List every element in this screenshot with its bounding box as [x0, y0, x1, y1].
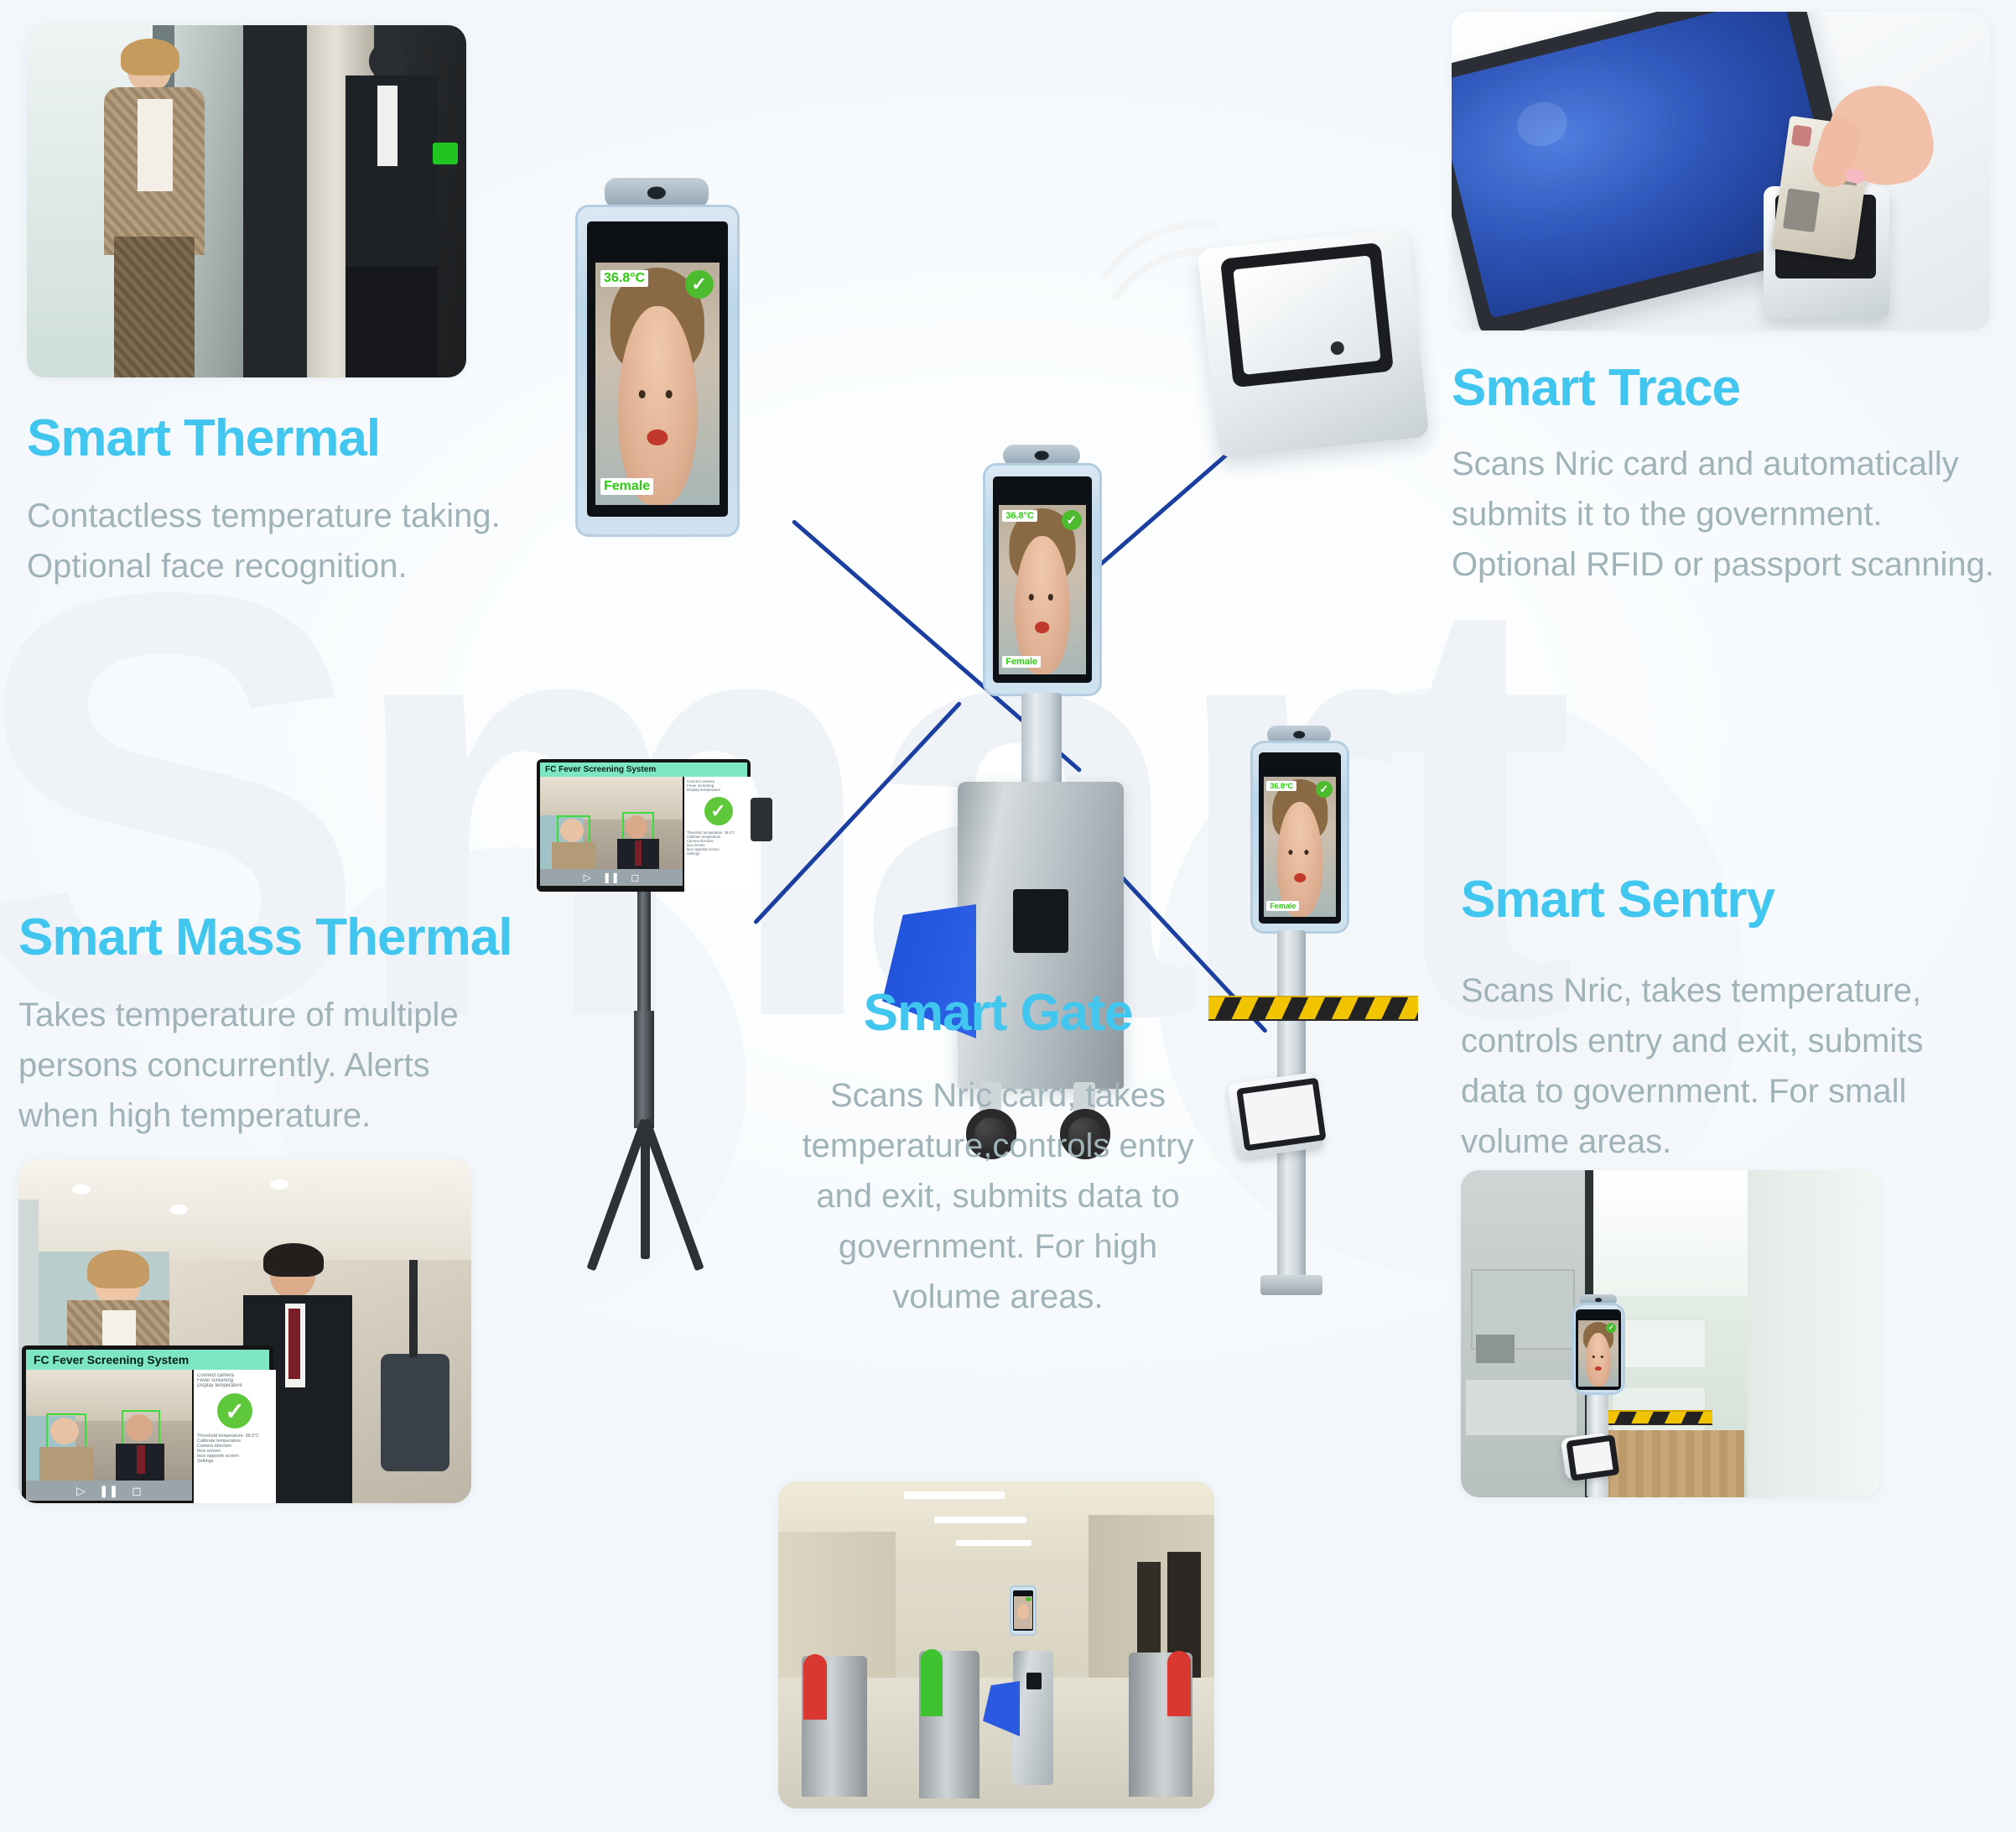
fever-screening-sidebar: Connect camera Fever screening Display t… [194, 1370, 276, 1503]
photo-gate-corridor [778, 1481, 1214, 1809]
pause-icon[interactable]: ❚❚ [99, 1484, 118, 1498]
check-circle-icon: ✓ [1062, 510, 1082, 530]
settings-label[interactable]: Settings [197, 1459, 273, 1464]
turnstile-indicator-green [921, 1649, 943, 1716]
gender-readout: Female [600, 478, 653, 495]
tripod-leg [641, 1120, 650, 1259]
temperature-readout: 36.8°C [600, 270, 648, 287]
section-smart-gate: Smart Gate Scans Nric card, takes temper… [788, 986, 1208, 1322]
stop-icon[interactable]: ◻ [631, 872, 639, 883]
settings-label[interactable]: Settings [687, 851, 750, 856]
thermal-sensor-module [751, 798, 772, 841]
section-smart-sentry: Smart Sentry Scans Nric, takes temperatu… [1461, 872, 1998, 1167]
play-icon[interactable]: ▷ [76, 1484, 86, 1498]
check-circle-icon: ✓ [1606, 1323, 1616, 1333]
scanner-housing [1198, 228, 1430, 459]
gate-camera-feed: 36.8°C ✓ Female [999, 505, 1086, 674]
section-body-line: Scans Nric card, takes [788, 1070, 1208, 1121]
device-smart-sentry: 36.8°C ✓ Female [1220, 726, 1421, 1304]
playback-controls[interactable]: ▷ ❚❚ ◻ [26, 1481, 192, 1501]
fever-screening-overlay: FC Fever Screening System Connect camera… [22, 1345, 273, 1503]
face-eye [1048, 594, 1053, 600]
section-body-line: submits it to the government. [1452, 489, 2005, 539]
gate-thermal-screen: 36.8°C ✓ Female [993, 476, 1092, 683]
playback-controls[interactable]: ▷ ❚❚ ◻ [540, 869, 683, 886]
section-title-smart-thermal: Smart Thermal [27, 411, 564, 466]
section-smart-trace: Smart Trace Scans Nric card and automati… [1452, 361, 2005, 590]
hazard-stripe-band [1603, 1410, 1712, 1425]
section-body-line: Optional face recognition. [27, 541, 564, 591]
photo-thermal-walkthrough [27, 25, 466, 377]
play-icon[interactable]: ▷ [584, 872, 591, 883]
thermal-device-screen: 36.8°C ✓ Female [587, 221, 728, 517]
face-eye [1593, 1356, 1595, 1358]
tripod-leg [641, 1118, 704, 1271]
pole-base-plate [1260, 1275, 1322, 1295]
face-eye [1029, 594, 1034, 600]
hazard-stripe-band [1208, 996, 1418, 1021]
check-circle-icon: ✓ [217, 1393, 252, 1429]
turnstile-indicator-red [803, 1654, 827, 1720]
sentry-thermal-screen: 36.8°C ✓ Female [1259, 752, 1341, 924]
section-body-line: data to government. For small [1461, 1066, 1998, 1116]
fever-screening-sidebar: Connect camera Fever screening Display t… [684, 777, 752, 893]
fever-screening-title: FC Fever Screening System [34, 1353, 189, 1366]
toggle-label: Display temperature [687, 788, 750, 792]
photo-sentry-office: ✓ [1461, 1170, 1880, 1497]
check-circle-icon: ✓ [685, 270, 714, 299]
photo-mass-thermal-lobby: FC Fever Screening System Connect camera… [18, 1159, 471, 1503]
kiosk-stem [1021, 693, 1062, 790]
check-circle-icon: ✓ [704, 797, 733, 825]
face-eye [638, 390, 646, 399]
face-eye [1305, 850, 1309, 855]
fever-screening-monitor: FC Fever Screening System Connect camera… [537, 759, 751, 892]
sentry-camera-feed: ✓ [1578, 1320, 1619, 1387]
section-body-line: Scans Nric, takes temperature, [1461, 965, 1998, 1016]
face-lips [1294, 873, 1306, 882]
section-title-smart-mass-thermal: Smart Mass Thermal [18, 910, 555, 965]
stop-icon[interactable]: ◻ [132, 1484, 142, 1498]
pause-icon[interactable]: ❚❚ [603, 872, 620, 883]
face-graphic [618, 306, 698, 505]
fever-screening-title: FC Fever Screening System [545, 765, 656, 774]
section-body-line: temperature,controls entry [788, 1121, 1208, 1171]
section-smart-mass-thermal: Smart Mass Thermal Takes temperature of … [18, 910, 555, 1141]
face-graphic [1276, 802, 1322, 917]
section-title-smart-trace: Smart Trace [1452, 361, 2005, 415]
face-eye [1601, 1356, 1603, 1358]
face-lips [647, 429, 668, 445]
section-body-line: Scans Nric card and automatically [1452, 439, 2005, 489]
kiosk-card-reader [1013, 889, 1068, 953]
section-title-smart-sentry: Smart Sentry [1461, 872, 1998, 927]
tripod-column [634, 1011, 654, 1128]
temperature-readout: 36.8°C [1266, 781, 1296, 791]
turnstile-indicator-red [1167, 1651, 1191, 1716]
sentry-thermal-screen: ✓ [1576, 1309, 1621, 1390]
fever-screening-video [26, 1370, 192, 1481]
section-body-line: Contactless temperature taking. [27, 491, 564, 541]
gender-readout: Female [1266, 901, 1299, 911]
device-mass-thermal-tripod: FC Fever Screening System Connect camera… [528, 759, 780, 1313]
section-body-line: persons concurrently. Alerts [18, 1040, 555, 1090]
section-body-line: and exit, submits data to [788, 1171, 1208, 1221]
face-eye [1289, 850, 1293, 855]
exit-sign-icon [433, 143, 458, 164]
gender-readout: Female [1002, 656, 1041, 668]
face-lips [1035, 622, 1049, 632]
check-circle-icon: ✓ [1316, 781, 1333, 798]
section-smart-thermal: Smart Thermal Contactless temperature ta… [27, 411, 564, 591]
infographic-canvas: Smart Smart Thermal Contactless temperat… [0, 0, 2016, 1832]
fever-screening-titlebar: FC Fever Screening System [26, 1350, 269, 1370]
section-body-line: Takes temperature of multiple [18, 990, 555, 1040]
thermal-camera-feed: 36.8°C ✓ Female [595, 263, 720, 505]
section-body-line: controls entry and exit, submits [1461, 1016, 1998, 1066]
toggle-label: Display temperature [197, 1383, 273, 1388]
fever-screening-video [540, 777, 683, 869]
sentry-card-scanner [1561, 1432, 1613, 1480]
fever-screening-titlebar: FC Fever Screening System [540, 762, 747, 777]
section-title-smart-gate: Smart Gate [788, 986, 1208, 1040]
photo-nric-tablet-scan [1452, 12, 1990, 330]
face-eye [665, 390, 673, 399]
scanner-window [1220, 242, 1394, 388]
section-body-line: Optional RFID or passport scanning. [1452, 539, 2005, 590]
sentry-camera-feed: 36.8°C ✓ Female [1264, 777, 1336, 917]
temperature-readout: 36.8°C [1002, 510, 1037, 522]
sentry-card-scanner [1227, 1072, 1324, 1159]
device-smart-thermal: 36.8°C ✓ Female [560, 178, 753, 547]
section-body-line: volume areas. [788, 1272, 1208, 1322]
section-body-line: when high temperature. [18, 1090, 555, 1141]
thermal-camera-module [605, 178, 709, 208]
face-lips [1595, 1366, 1602, 1371]
section-body-line: volume areas. [1461, 1116, 1998, 1167]
section-body-line: government. For high [788, 1221, 1208, 1272]
